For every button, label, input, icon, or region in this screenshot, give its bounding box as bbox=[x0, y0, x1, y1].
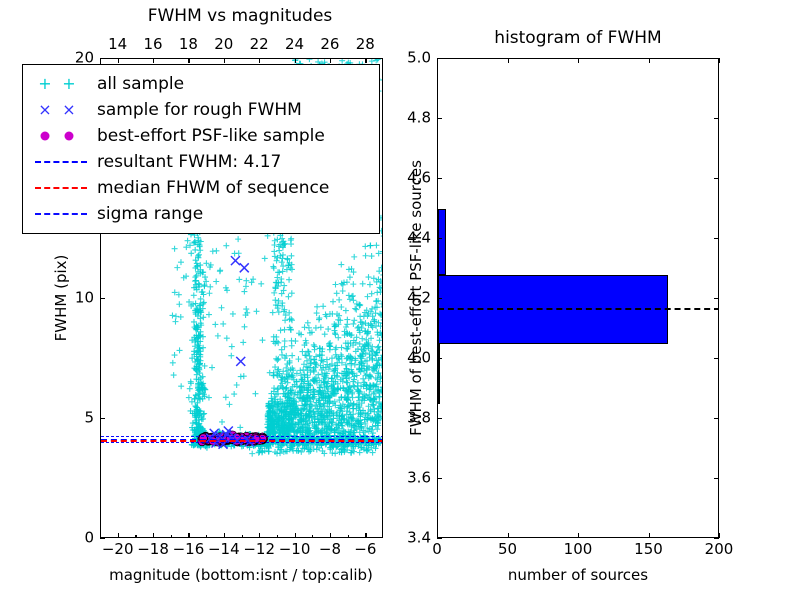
minor-tick bbox=[348, 535, 349, 538]
tick-label: 26 bbox=[320, 37, 339, 52]
histogram-data-layer bbox=[438, 59, 718, 537]
tick-label: 3.4 bbox=[389, 531, 431, 546]
tick-mark bbox=[100, 418, 105, 419]
legend-item-4[interactable]: median FHWM of sequence bbox=[31, 175, 369, 201]
dot-icon bbox=[65, 132, 74, 141]
tick-mark bbox=[714, 118, 719, 119]
tick-mark bbox=[719, 533, 720, 538]
tick-label: 14 bbox=[108, 37, 127, 52]
tick-mark bbox=[719, 58, 720, 63]
minor-tick bbox=[312, 535, 313, 538]
minor-tick bbox=[242, 535, 243, 538]
dashed-line-icon bbox=[35, 187, 87, 189]
tick-label: −6 bbox=[354, 542, 376, 557]
tick-label: 50 bbox=[498, 542, 517, 557]
tick-label: 100 bbox=[564, 542, 593, 557]
tick-mark bbox=[437, 478, 442, 479]
dashdot-line-icon bbox=[35, 213, 87, 215]
tick-label: −10 bbox=[279, 542, 311, 557]
tick-mark bbox=[100, 538, 105, 539]
tick-mark bbox=[649, 533, 650, 538]
legend-label: median FHWM of sequence bbox=[91, 178, 329, 198]
left-panel-ylabel: FWHM (pix) bbox=[52, 255, 70, 342]
cross-icon: × bbox=[62, 102, 75, 118]
legend-label: best-effort PSF-like sample bbox=[91, 126, 325, 146]
tick-mark bbox=[714, 58, 719, 59]
tick-label: −20 bbox=[102, 542, 134, 557]
legend-item-0[interactable]: ++all sample bbox=[31, 71, 369, 97]
minor-tick bbox=[259, 535, 260, 538]
tick-mark bbox=[714, 298, 719, 299]
legend-key: ×× bbox=[31, 99, 91, 121]
tick-mark bbox=[437, 538, 442, 539]
tick-mark bbox=[437, 178, 442, 179]
tick-label: 150 bbox=[634, 542, 663, 557]
cross-icon: × bbox=[38, 102, 51, 118]
tick-mark bbox=[649, 58, 650, 63]
tick-label: −12 bbox=[243, 542, 275, 557]
tick-label: 5.0 bbox=[389, 51, 431, 66]
tick-label: −8 bbox=[319, 542, 341, 557]
histogram-bar-1 bbox=[438, 275, 668, 344]
tick-mark bbox=[578, 533, 579, 538]
minor-tick bbox=[206, 535, 207, 538]
tick-mark bbox=[437, 298, 442, 299]
minor-tick bbox=[277, 535, 278, 538]
tick-mark bbox=[714, 538, 719, 539]
tick-mark bbox=[714, 178, 719, 179]
tick-label: 200 bbox=[705, 542, 734, 557]
tick-mark bbox=[508, 58, 509, 63]
sigma-low-line bbox=[101, 442, 382, 443]
tick-mark bbox=[437, 118, 442, 119]
dot-icon bbox=[41, 132, 50, 141]
tick-label: 4.8 bbox=[389, 111, 431, 126]
tick-mark bbox=[714, 358, 719, 359]
tick-label: −14 bbox=[208, 542, 240, 557]
tick-mark bbox=[437, 238, 442, 239]
legend-key bbox=[31, 203, 91, 225]
legend-key bbox=[31, 177, 91, 199]
minor-tick bbox=[153, 535, 154, 538]
tick-mark bbox=[118, 58, 119, 63]
tick-label: 16 bbox=[144, 37, 163, 52]
legend-item-1[interactable]: ××sample for rough FWHM bbox=[31, 97, 369, 123]
median-fwhm-line bbox=[101, 440, 382, 442]
tick-mark bbox=[714, 418, 719, 419]
minor-tick bbox=[118, 535, 119, 538]
legend[interactable]: ++all sample××sample for rough FWHMbest-… bbox=[22, 64, 380, 234]
minor-tick bbox=[135, 535, 136, 538]
tick-label: 5 bbox=[58, 411, 94, 426]
histogram-bar-2 bbox=[438, 209, 446, 275]
right-panel-xlabel: number of sources bbox=[508, 566, 648, 584]
legend-label: resultant FWHM: 4.17 bbox=[91, 152, 281, 172]
minor-tick bbox=[188, 535, 189, 538]
tick-mark bbox=[259, 58, 260, 63]
figure-canvas: FWHM vs magnitudes 1416182022242628 −20−… bbox=[0, 0, 800, 600]
tick-mark bbox=[578, 58, 579, 63]
tick-mark bbox=[330, 58, 331, 63]
tick-label: 0 bbox=[432, 542, 442, 557]
legend-key: ++ bbox=[31, 73, 91, 95]
legend-key bbox=[31, 125, 91, 147]
legend-item-5[interactable]: sigma range bbox=[31, 201, 369, 227]
legend-item-3[interactable]: resultant FWHM: 4.17 bbox=[31, 149, 369, 175]
tick-label: 20 bbox=[214, 37, 233, 52]
dashed-line-icon bbox=[35, 161, 87, 163]
tick-label: 18 bbox=[179, 37, 198, 52]
tick-mark bbox=[714, 478, 719, 479]
tick-label: 3.6 bbox=[389, 471, 431, 486]
tick-mark bbox=[224, 58, 225, 63]
plus-icon: + bbox=[38, 76, 51, 92]
tick-label: 24 bbox=[285, 37, 304, 52]
histogram-bar-0 bbox=[438, 344, 440, 404]
left-panel-title: FWHM vs magnitudes bbox=[148, 6, 333, 26]
legend-key bbox=[31, 151, 91, 173]
tick-mark bbox=[100, 58, 105, 59]
tick-label: −18 bbox=[137, 542, 169, 557]
resultant-fwhm-line bbox=[101, 439, 382, 441]
tick-mark bbox=[365, 58, 366, 63]
tick-mark bbox=[295, 58, 296, 63]
histogram-median-line bbox=[438, 308, 718, 310]
tick-label: 28 bbox=[356, 37, 375, 52]
right-panel-title: histogram of FWHM bbox=[494, 28, 661, 48]
histogram-axes[interactable] bbox=[437, 58, 719, 538]
tick-mark bbox=[508, 533, 509, 538]
legend-label: sigma range bbox=[91, 204, 203, 224]
minor-tick bbox=[330, 535, 331, 538]
plus-icon: + bbox=[62, 76, 75, 92]
tick-mark bbox=[188, 58, 189, 63]
right-panel-ylabel: FWHM of best-effort PSF-like sources bbox=[407, 160, 425, 436]
sigma-high-line bbox=[101, 436, 382, 437]
tick-mark bbox=[153, 58, 154, 63]
tick-label: 0 bbox=[58, 531, 94, 546]
legend-item-2[interactable]: best-effort PSF-like sample bbox=[31, 123, 369, 149]
tick-mark bbox=[714, 238, 719, 239]
minor-tick bbox=[171, 535, 172, 538]
left-panel-xlabel: magnitude (bottom:isnt / top:calib) bbox=[109, 566, 373, 584]
legend-label: sample for rough FWHM bbox=[91, 100, 302, 120]
tick-label: 22 bbox=[250, 37, 269, 52]
minor-tick bbox=[224, 535, 225, 538]
minor-tick bbox=[295, 535, 296, 538]
minor-tick bbox=[365, 535, 366, 538]
tick-mark bbox=[437, 418, 442, 419]
legend-label: all sample bbox=[91, 74, 184, 94]
tick-label: −16 bbox=[173, 542, 205, 557]
tick-mark bbox=[100, 298, 105, 299]
tick-mark bbox=[437, 58, 442, 59]
tick-mark bbox=[437, 358, 442, 359]
